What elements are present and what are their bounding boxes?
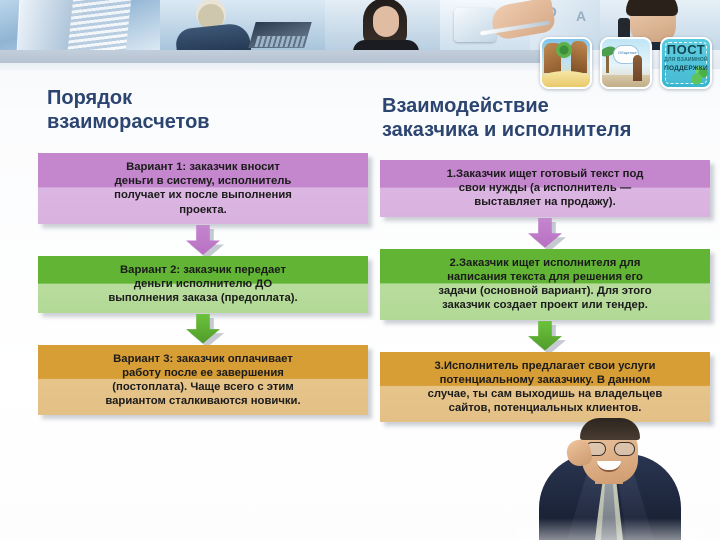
box-line: написания текста для решения его: [390, 270, 700, 284]
box-line: свои нужды (а исполнитель —: [390, 181, 700, 195]
businesswoman-photo: [325, 0, 440, 50]
flow-box: 3.Исполнитель предлагает свои услуги пот…: [380, 352, 710, 423]
down-arrow-icon: [528, 218, 562, 248]
left-title-line2: взаиморасчетов: [47, 110, 347, 134]
box-line: задачи (основной вариант). Для этого: [390, 284, 700, 298]
box-line: потенциальному заказчику. В данном: [390, 373, 700, 387]
box-line: Вариант 2: заказчик передает: [48, 263, 358, 277]
box-line: (постоплата). Чаще всего с этим: [48, 380, 358, 394]
flow-box: Вариант 2: заказчик передает деньги испо…: [38, 256, 368, 313]
arrow-slot: [380, 217, 710, 249]
arrow-slot: [38, 313, 368, 345]
box-line: вариантом сталкиваются новички.: [48, 394, 358, 408]
arrow-slot: [38, 224, 368, 256]
badge-line-3: ПОДДЕРЖКИ: [662, 65, 710, 73]
box-line: работу после ее завершения: [48, 366, 358, 380]
left-column-title: Порядок взаиморасчетов: [47, 86, 347, 135]
badge-line-1: ПОСТ: [662, 43, 710, 56]
box-line: 2.Заказчик ищет исполнителя для: [390, 256, 700, 270]
box-line: сайтов, потенциальных клиентов.: [390, 401, 700, 415]
box-line: проекта.: [48, 203, 358, 217]
box-line: деньги в систему, исполнитель: [48, 174, 358, 188]
box-line: 1.Заказчик ищет готовый текст под: [390, 167, 700, 181]
right-title-line2: заказчика и исполнителя: [382, 118, 702, 142]
box-line: получает их после выполнения: [48, 188, 358, 202]
box-line: Вариант 1: заказчик вносит: [48, 160, 358, 174]
down-arrow-icon: [186, 225, 220, 255]
left-title-line1: Порядок: [47, 86, 347, 110]
businessman-laptop-photo: [160, 0, 325, 50]
box-line: выставляет на продажу).: [390, 195, 700, 209]
box-line: выполнения заказа (предоплата).: [48, 291, 358, 305]
left-flow-column: Вариант 1: заказчик вносит деньги в сист…: [38, 153, 368, 415]
box-line: Вариант 3: заказчик оплачивает: [48, 352, 358, 366]
flow-box: 2.Заказчик ищет исполнителя для написани…: [380, 249, 710, 320]
smiling-man-with-glasses-photo: [527, 420, 692, 540]
slide-canvas: Общение ПОСТ ДЛЯ ВЗАИМНОЙ ПОДДЕРЖКИ Поря…: [0, 0, 720, 540]
badge-group: Общение ПОСТ ДЛЯ ВЗАИМНОЙ ПОДДЕРЖКИ: [540, 37, 712, 89]
support-post-badge[interactable]: ПОСТ ДЛЯ ВЗАИМНОЙ ПОДДЕРЖКИ: [660, 37, 712, 89]
right-flow-column: 1.Заказчик ищет готовый текст под свои н…: [380, 160, 710, 422]
box-line: заказчик создает проект или тендер.: [390, 298, 700, 312]
arrow-slot: [380, 320, 710, 352]
box-line: случае, ты сам выходишь на владельцев: [390, 387, 700, 401]
right-title-line1: Взаимодействие: [382, 94, 702, 118]
beach-chat-badge[interactable]: Общение: [600, 37, 652, 89]
island-photo-badge[interactable]: [540, 37, 592, 89]
flow-box: 1.Заказчик ищет готовый текст под свои н…: [380, 160, 710, 217]
badge-line-2: ДЛЯ ВЗАИМНОЙ: [662, 57, 710, 63]
down-arrow-icon: [528, 321, 562, 351]
right-column-title: Взаимодействие заказчика и исполнителя: [382, 94, 702, 143]
flow-box: Вариант 1: заказчик вносит деньги в сист…: [38, 153, 368, 224]
office-building-photo: [0, 0, 160, 50]
box-line: 3.Исполнитель предлагает свои услуги: [390, 359, 700, 373]
flow-box: Вариант 3: заказчик оплачивает работу по…: [38, 345, 368, 416]
box-line: деньги исполнителю ДО: [48, 277, 358, 291]
down-arrow-icon: [186, 314, 220, 344]
